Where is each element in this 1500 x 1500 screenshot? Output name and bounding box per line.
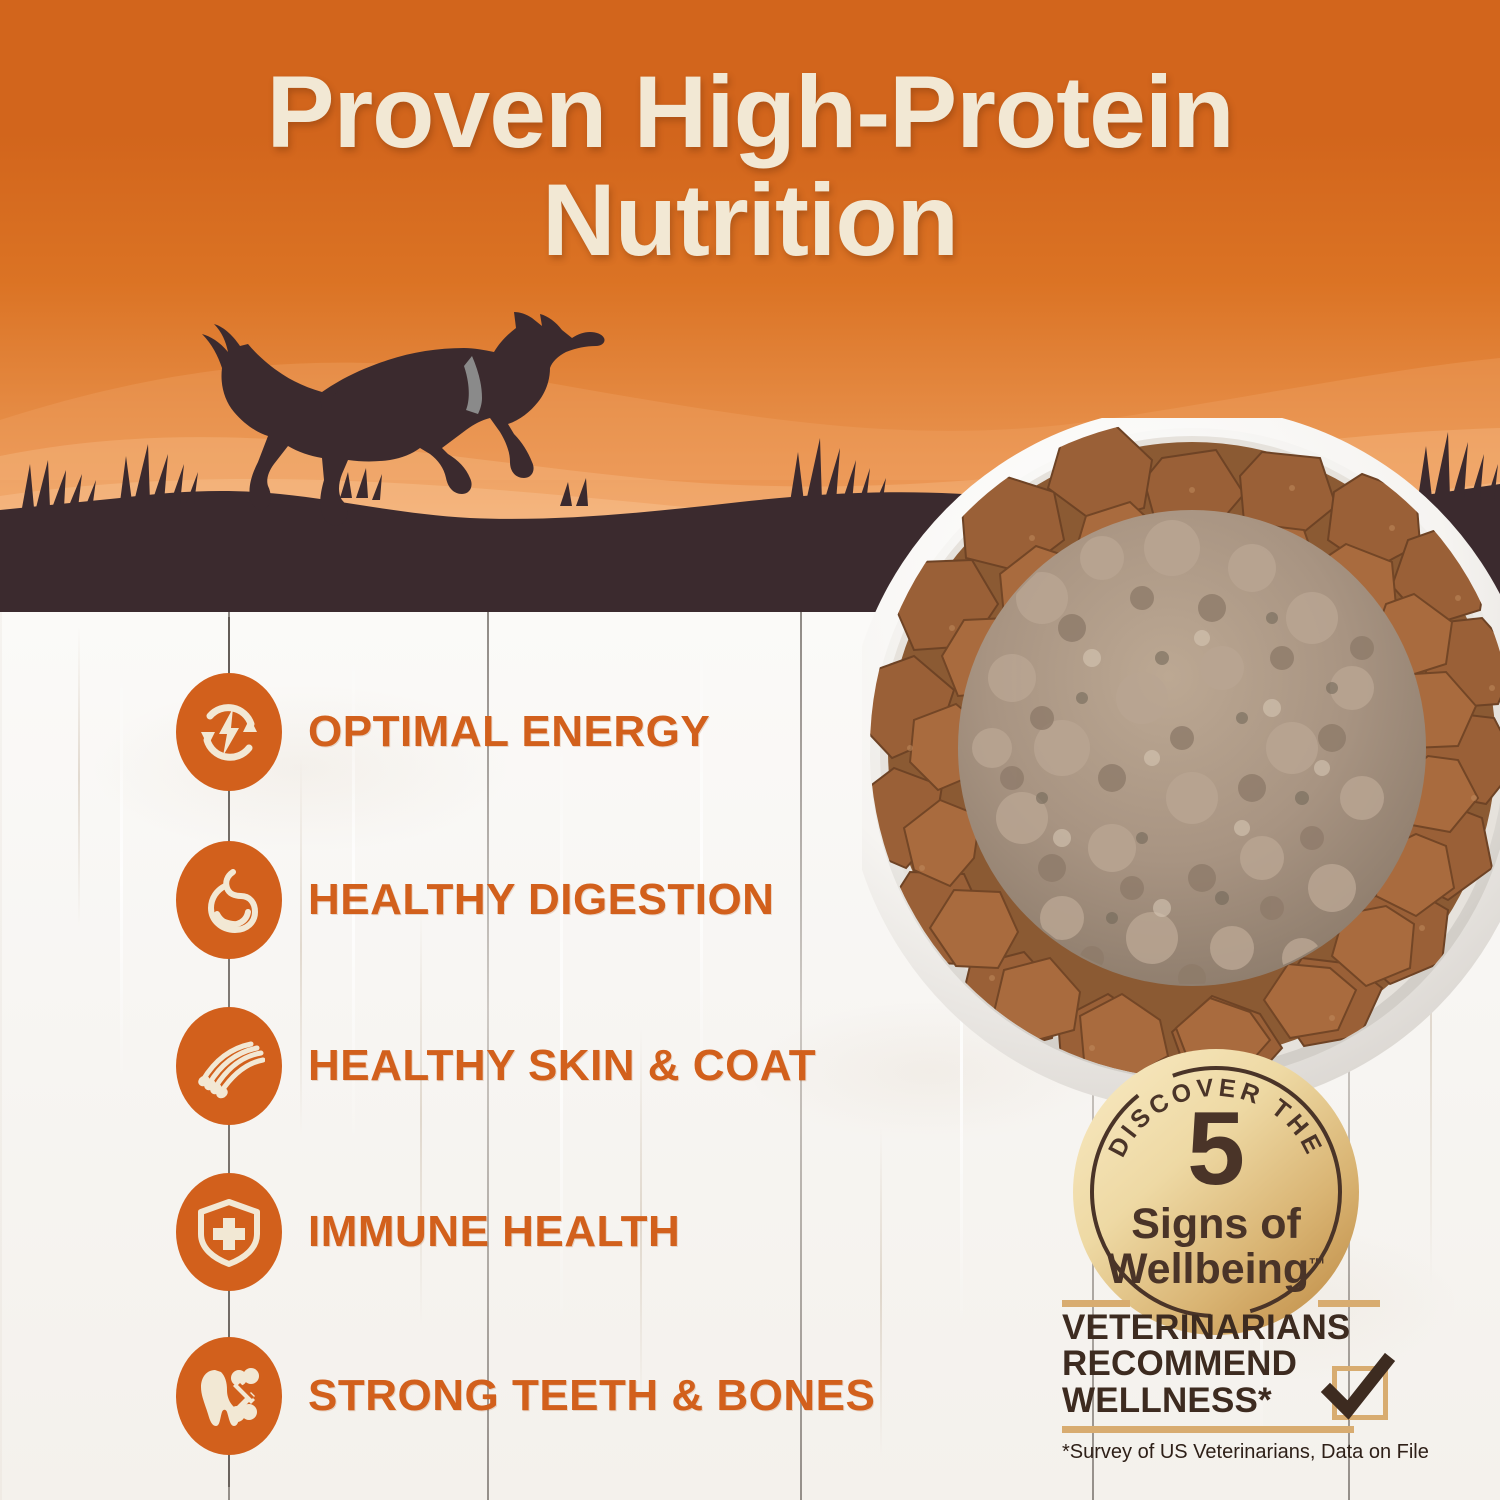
five-signs-of-wellbeing-seal: DISCOVER THE 5 Signs of Wellbeing ™	[1072, 1048, 1360, 1336]
benefit-row-healthy-digestion[interactable]: HEALTHY DIGESTION	[0, 841, 774, 959]
seal-line-3: Wellbeing	[1107, 1245, 1309, 1293]
running-dog-silhouette	[148, 312, 618, 562]
vet-gold-underline	[1062, 1426, 1354, 1433]
benefit-label: HEALTHY SKIN & COAT	[308, 1041, 816, 1091]
tooth-bone-icon	[176, 1337, 282, 1455]
benefit-label: OPTIMAL ENERGY	[308, 707, 710, 757]
benefit-row-optimal-energy[interactable]: OPTIMAL ENERGY	[0, 673, 710, 791]
gold-rule-right	[1318, 1300, 1380, 1307]
benefit-label: STRONG TEETH & BONES	[308, 1371, 875, 1421]
gold-rule-left	[1062, 1300, 1130, 1307]
headline-line-1: Proven High-Protein	[0, 58, 1500, 166]
benefits-list: OPTIMAL ENERGY HEALTHY DIGESTION	[0, 607, 1000, 1500]
stomach-icon	[176, 841, 282, 959]
seal-number: 5	[1187, 1091, 1245, 1207]
veterinarians-recommend-block: VETERINARIANS RECOMMEND WELLNESS* *Surve…	[1040, 1296, 1390, 1464]
vet-headline: VETERINARIANS RECOMMEND WELLNESS*	[1040, 1310, 1390, 1419]
checkmark-icon	[1320, 1352, 1396, 1428]
benefit-label: IMMUNE HEALTH	[308, 1207, 680, 1257]
product-marketing-image: Proven High-Protein Nutrition	[0, 0, 1500, 1500]
benefit-row-immune-health[interactable]: IMMUNE HEALTH	[0, 1173, 680, 1291]
page-headline: Proven High-Protein Nutrition	[0, 58, 1500, 274]
benefit-label: HEALTHY DIGESTION	[308, 875, 774, 925]
fur-strands-icon	[176, 1007, 282, 1125]
vet-line-1: VETERINARIANS	[1062, 1310, 1390, 1346]
headline-line-2: Nutrition	[0, 166, 1500, 274]
vet-footnote: *Survey of US Veterinarians, Data on Fil…	[1062, 1441, 1390, 1464]
benefit-row-strong-teeth-bones[interactable]: STRONG TEETH & BONES	[0, 1337, 875, 1455]
benefit-row-healthy-skin-coat[interactable]: HEALTHY SKIN & COAT	[0, 1007, 816, 1125]
shield-cross-icon	[176, 1173, 282, 1291]
seal-trademark: ™	[1309, 1255, 1326, 1274]
seal-line-2: Signs of	[1131, 1200, 1301, 1248]
energy-cycle-icon	[176, 673, 282, 791]
